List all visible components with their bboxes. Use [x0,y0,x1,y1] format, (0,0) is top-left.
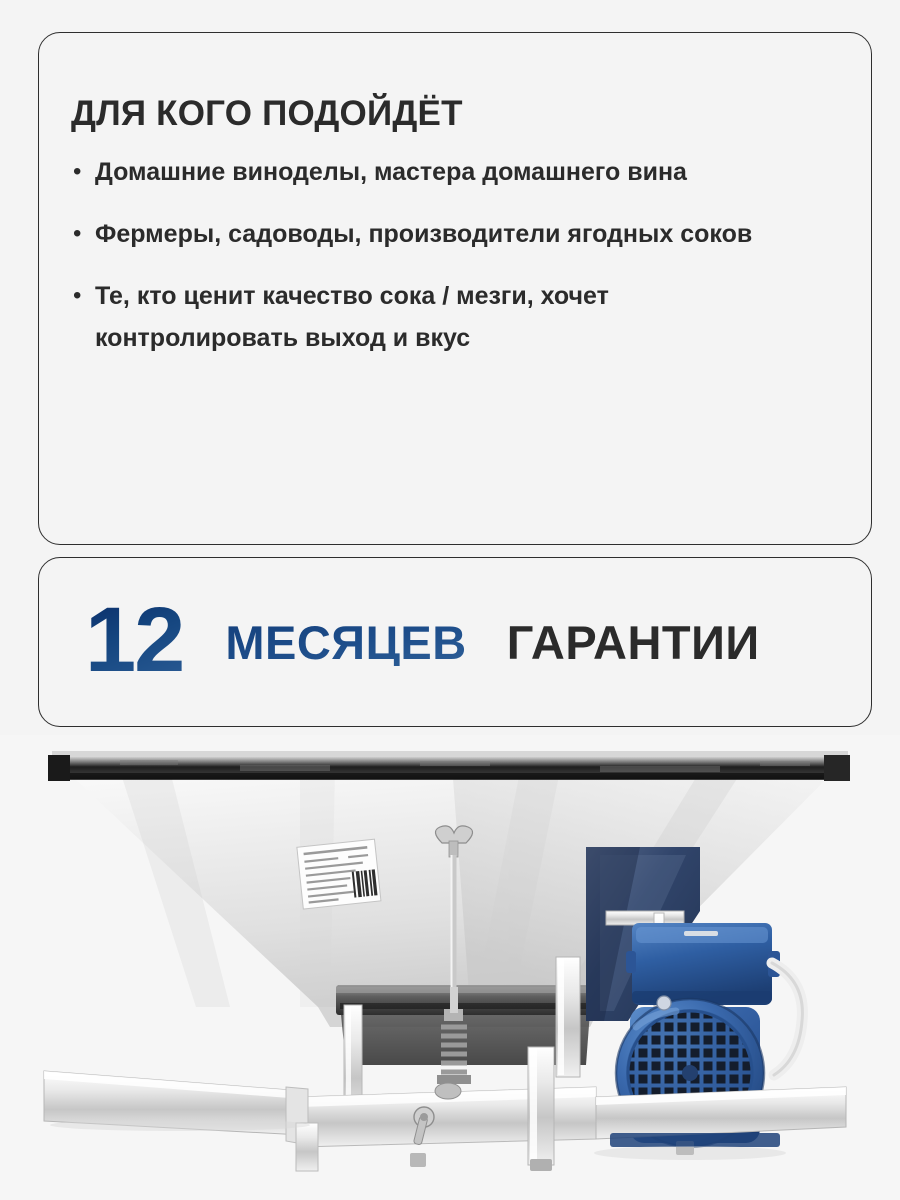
grape-crusher-illustration [0,735,900,1200]
warranty-row: 12 МЕСЯЦЕВ ГАРАНТИИ [39,558,871,726]
product-label-sticker [297,839,381,909]
warranty-months-label: МЕСЯЦЕВ [225,619,466,666]
audience-card: ДЛЯ КОГО ПОДОЙДЁТ • Домашние виноделы, м… [38,32,872,545]
rim-cap-right [824,755,850,781]
warranty-label: ГАРАНТИИ [507,619,760,666]
list-item: • Те, кто ценит качество сока / мезги, х… [71,275,841,359]
motor-mount-bracket [606,911,684,925]
frame-foot-left [410,1153,426,1167]
motor-screw [657,996,671,1010]
frame-foot-center [530,1159,552,1171]
bullet-icon: • [71,275,95,317]
bullet-icon: • [71,213,95,255]
bullet-icon: • [71,151,95,193]
warranty-number: 12 [85,594,183,690]
audience-list: • Домашние виноделы, мастера домашнего в… [71,151,841,379]
motor-base-plate [610,1133,780,1147]
terminal-box-slot [684,931,718,936]
list-item: • Домашние виноделы, мастера домашнего в… [71,151,841,193]
product-photo: Нержавеющая дробилка-гребнеотделитель дл… [0,735,900,1200]
motor-terminal-box [626,923,780,1005]
rim-cap-left [48,755,70,781]
spring-seat [437,1075,471,1084]
list-item-label: Домашние виноделы, мастера домашнего вин… [95,151,795,193]
page-title: ДЛЯ КОГО ПОДОЙДЁТ [71,94,463,134]
vertical-leg-left [296,1123,318,1171]
warranty-badge-card: 12 МЕСЯЦЕВ ГАРАНТИИ [38,557,872,727]
list-item-label: Те, кто ценит качество сока / мезги, хоч… [95,275,795,359]
list-item-label: Фермеры, садоводы, производители ягодных… [95,213,795,255]
fan-hub [682,1065,698,1081]
marketing-infographic-page: ДЛЯ КОГО ПОДОЙДЁТ • Домашние виноделы, м… [0,0,900,1200]
list-item: • Фермеры, садоводы, производители ягодн… [71,213,841,255]
frame-bolt [435,1083,461,1099]
terminal-box-lug-left [626,951,636,973]
